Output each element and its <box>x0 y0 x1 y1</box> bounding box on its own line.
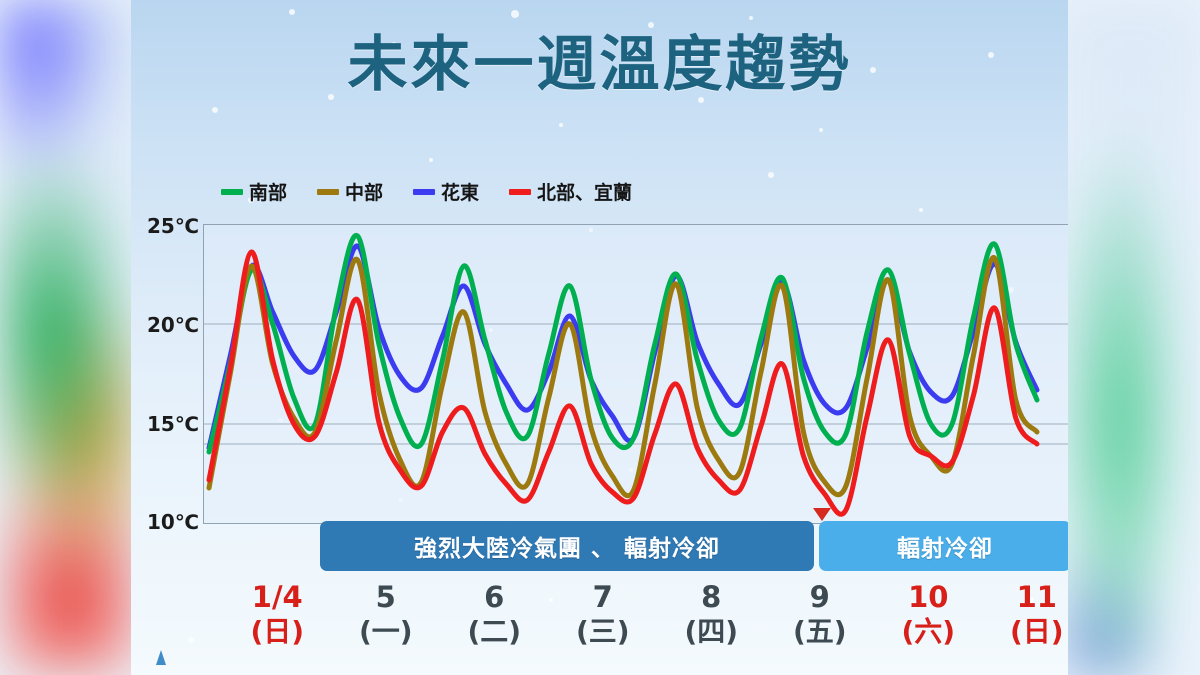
y-tick-25: 25℃ <box>137 214 199 238</box>
legend-swatch-icon <box>413 189 435 195</box>
snowflake-dot <box>289 9 295 15</box>
legend-item-hualien-taitung[interactable]: 花東 <box>413 178 479 205</box>
banner-cold-air-mass[interactable]: 強烈大陸冷氣團 、 輻射冷卻 <box>320 521 814 571</box>
date-column-8: 11(日) <box>982 580 1068 650</box>
legend-label: 北部、宜蘭 <box>537 178 632 205</box>
date-weekday: (日) <box>982 614 1068 650</box>
temperature-line-chart-plot <box>203 224 1068 524</box>
legend-swatch-icon <box>317 189 339 195</box>
blurred-backdrop-left <box>0 0 140 675</box>
x-axis-date-labels: 1/4(日)5(一)6(二)7(三)8(四)9(五)10(六)11(日) <box>203 580 1068 655</box>
snowflake-dot <box>559 123 563 127</box>
date-weekday: (一) <box>331 614 441 650</box>
date-column-6: 9(五) <box>765 580 875 650</box>
snowflake-dot <box>212 107 218 113</box>
legend-label: 中部 <box>345 178 383 205</box>
date-number: 5 <box>331 580 441 614</box>
y-tick-15: 15℃ <box>137 412 199 436</box>
date-column-2: 5(一) <box>331 580 441 650</box>
legend-item-south[interactable]: 南部 <box>221 178 287 205</box>
weather-chart-card: 未來一週溫度趨勢 南部 中部 花東 北部、宜蘭 25℃ 20℃ 15℃ 10℃ … <box>131 0 1068 675</box>
date-column-1: 1/4(日) <box>222 580 332 650</box>
date-number: 1/4 <box>222 580 332 614</box>
date-weekday: (二) <box>439 614 549 650</box>
date-column-3: 6(二) <box>439 580 549 650</box>
y-axis-tick-labels: 25℃ 20℃ 15℃ 10℃ <box>131 224 199 524</box>
y-tick-10: 10℃ <box>137 510 199 534</box>
legend-swatch-icon <box>221 189 243 195</box>
chart-svg <box>203 224 1068 524</box>
page-title: 未來一週溫度趨勢 <box>131 16 1068 103</box>
date-weekday: (四) <box>656 614 766 650</box>
date-weekday: (三) <box>548 614 658 650</box>
legend-swatch-icon <box>509 189 531 195</box>
legend-label: 南部 <box>249 178 287 205</box>
legend-item-central[interactable]: 中部 <box>317 178 383 205</box>
blurred-backdrop-right <box>1060 0 1200 675</box>
date-column-7: 10(六) <box>873 580 983 650</box>
date-column-5: 8(四) <box>656 580 766 650</box>
snowflake-dot <box>188 637 194 643</box>
weather-condition-banners: 強烈大陸冷氣團 、 輻射冷卻 輻射冷卻 <box>320 521 1068 571</box>
snowflake-dot <box>429 158 433 162</box>
y-tick-20: 20℃ <box>137 313 199 337</box>
date-weekday: (六) <box>873 614 983 650</box>
snowflake-dot <box>768 172 774 178</box>
date-number: 9 <box>765 580 875 614</box>
snowflake-dot <box>819 128 823 132</box>
banner-radiative-cooling[interactable]: 輻射冷卻 <box>819 521 1068 571</box>
date-number: 7 <box>548 580 658 614</box>
snowflake-dot <box>919 208 923 212</box>
chart-legend: 南部 中部 花東 北部、宜蘭 <box>221 178 632 205</box>
legend-item-north-yilan[interactable]: 北部、宜蘭 <box>509 178 632 205</box>
date-weekday: (日) <box>222 614 332 650</box>
date-number: 11 <box>982 580 1068 614</box>
date-number: 8 <box>656 580 766 614</box>
period-divider-marker-icon <box>813 508 831 521</box>
date-column-4: 7(三) <box>548 580 658 650</box>
date-number: 10 <box>873 580 983 614</box>
date-weekday: (五) <box>765 614 875 650</box>
bottom-arrow-icon <box>156 650 166 665</box>
legend-label: 花東 <box>441 178 479 205</box>
date-number: 6 <box>439 580 549 614</box>
